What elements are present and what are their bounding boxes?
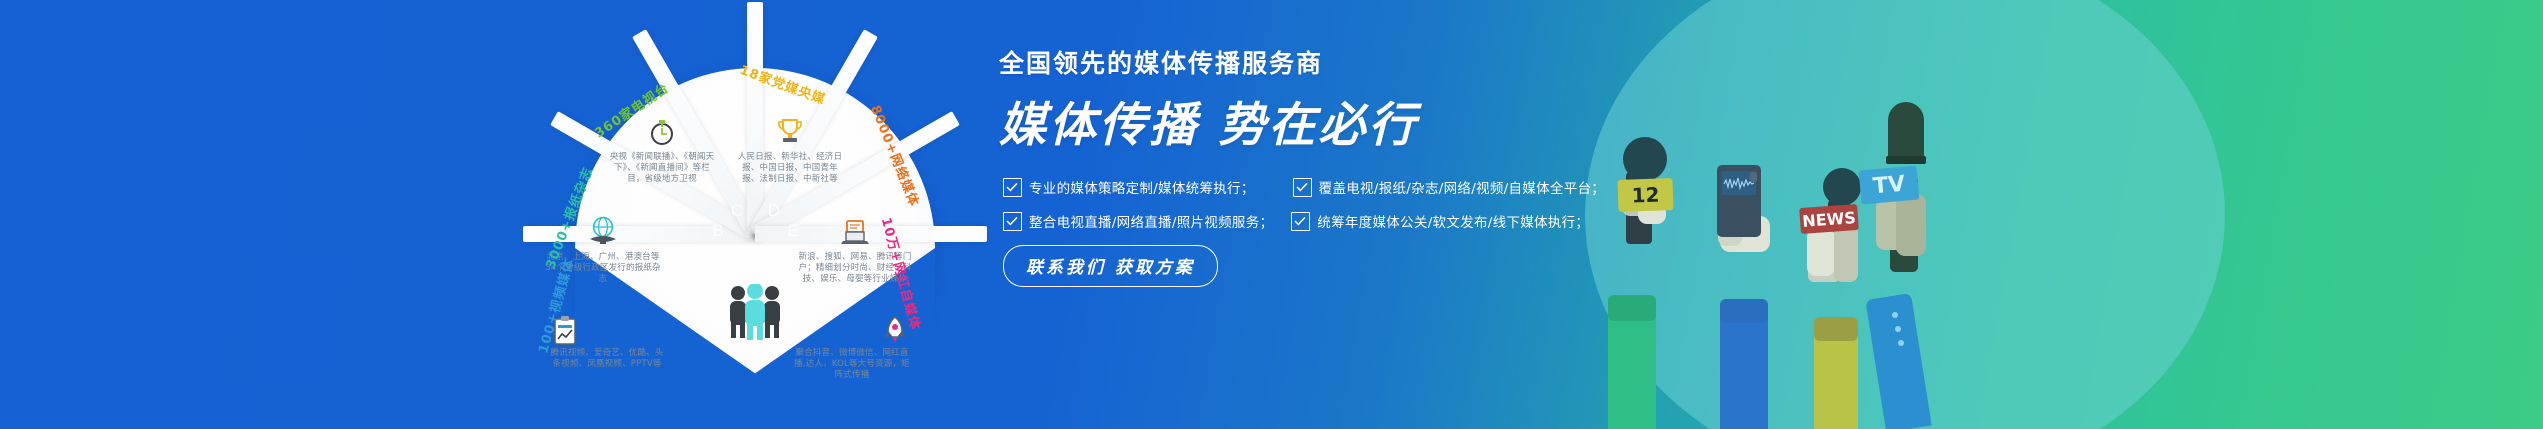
reporter-sleeve	[1814, 317, 1858, 341]
copy-block: 全国领先的媒体传播服务商 媒体传播 势在必行 专业的媒体策略定制/媒体统筹执行；…	[997, 44, 1617, 287]
sleeve-dot	[1898, 340, 1904, 346]
feature-item-strategy[interactable]: 专业的媒体策略定制/媒体统筹执行；	[1003, 177, 1255, 197]
eyebrow-text: 全国领先的媒体传播服务商	[999, 44, 1617, 80]
mic-badge-tv: TV	[1859, 166, 1920, 205]
mic-head	[1823, 168, 1861, 206]
wheel-letter-b: B	[700, 221, 736, 241]
reporter-thumb	[1834, 224, 1858, 282]
promo-banner: A B C D E F	[0, 0, 2543, 429]
feature-item-live[interactable]: 整合电视直播/网络直播/照片视频服务；	[1003, 211, 1273, 231]
feature-label: 专业的媒体策略定制/媒体统筹执行；	[1029, 177, 1255, 197]
laptop-icon	[838, 214, 872, 248]
check-icon[interactable]	[1293, 178, 1312, 197]
contact-cta-button[interactable]: 联系我们 获取方案	[1003, 245, 1218, 287]
wheel-letter-d: D	[756, 201, 792, 221]
check-icon[interactable]	[1003, 212, 1022, 231]
fan-segment-kol: 聚合抖音、微博微信、网红直播,达人，KOL等大号资源，矩阵式传播	[792, 296, 912, 381]
fan-segment-text: 腾讯视频、爱奇艺、优酷、头条视频、凤凰视频、PPTV等	[548, 348, 666, 370]
media-fan-infographic: A B C D E F	[520, 38, 990, 429]
sleeve-dot	[1895, 326, 1901, 332]
feature-label: 统筹年度媒体公关/软文发布/线下媒体执行；	[1317, 211, 1589, 231]
globe-icon	[586, 214, 620, 248]
recorder-button	[1750, 172, 1757, 182]
fan-segment-video: 腾讯视频、爱奇艺、优酷、头条视频、凤凰视频、PPTV等	[548, 296, 666, 370]
stopwatch-icon	[645, 114, 679, 148]
check-icon[interactable]	[1291, 212, 1310, 231]
reporter-sleeve	[1720, 299, 1768, 323]
mic-badge-12: 12	[1617, 178, 1673, 212]
sleeve-dot	[1892, 312, 1898, 318]
headline-text: 媒体传播 势在必行	[999, 86, 1617, 155]
wheel-letter-c: C	[719, 201, 755, 221]
mic-collar	[1886, 156, 1926, 164]
feature-row: 专业的媒体策略定制/媒体统筹执行； 覆盖电视/报纸/杂志/网络/视频/自媒体全平…	[1003, 177, 1617, 197]
fan-segment-party-media: 人民日报、新华社、经济日报、中国日报、中国青年报、法制日报、中新社等	[734, 114, 846, 185]
feature-label: 整合电视直播/网络直播/照片视频服务；	[1029, 211, 1273, 231]
fan-segment-text: 人民日报、新华社、经济日报、中国日报、中国青年报、法制日报、中新社等	[734, 152, 846, 185]
feature-item-pr[interactable]: 统筹年度媒体公关/软文发布/线下媒体执行；	[1291, 211, 1589, 231]
reporter-arm	[1865, 293, 1931, 429]
wheel-letter-a: A	[706, 246, 742, 266]
feature-list: 专业的媒体策略定制/媒体统筹执行； 覆盖电视/报纸/杂志/网络/视频/自媒体全平…	[1003, 177, 1617, 231]
feature-item-coverage[interactable]: 覆盖电视/报纸/杂志/网络/视频/自媒体全平台；	[1293, 177, 1605, 197]
check-icon[interactable]	[1003, 178, 1022, 197]
mic-head	[1623, 137, 1667, 181]
reporter-sleeve	[1608, 295, 1656, 321]
reporter-thumb	[1896, 194, 1926, 256]
people-icon	[725, 284, 785, 340]
trophy-icon	[773, 114, 807, 148]
feature-row: 整合电视直播/网络直播/照片视频服务； 统筹年度媒体公关/软文发布/线下媒体执行…	[1003, 211, 1617, 231]
fan-segment-text: 央视《新闻联播》、《朝闻天下》、《新闻直播间》等栏目，省级地方卫视	[608, 152, 716, 185]
fan-segment-text: 聚合抖音、微博微信、网红直播,达人，KOL等大号资源，矩阵式传播	[792, 348, 912, 381]
mic-badge-news: NEWS	[1799, 204, 1859, 234]
mic-head	[1888, 102, 1924, 164]
reporter-fingers	[1807, 228, 1835, 276]
microphone-illustration: 12 NEWS	[1560, 0, 2120, 429]
